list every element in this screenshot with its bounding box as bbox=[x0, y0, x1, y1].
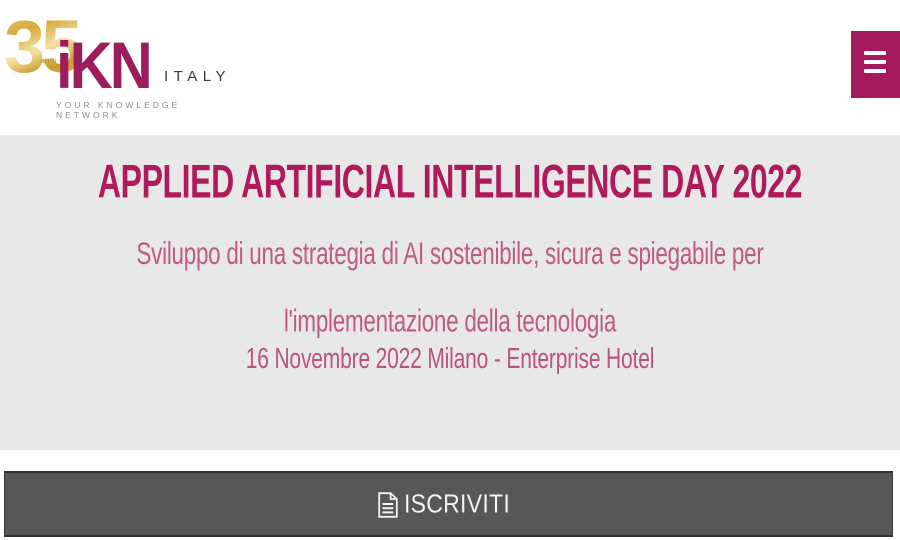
logo-country-italy: ITALY bbox=[164, 68, 231, 85]
document-form-icon bbox=[378, 492, 398, 518]
event-subtitle: Sviluppo di una strategia di AI sostenib… bbox=[101, 220, 798, 355]
hamburger-bar-1 bbox=[864, 51, 886, 55]
register-cta-content: ISCRIVITI bbox=[5, 473, 892, 535]
event-date-location: 16 Novembre 2022 Milano - Enterprise Hot… bbox=[72, 342, 828, 376]
logo-tagline: YOUR KNOWLEDGE NETWORK bbox=[56, 100, 244, 120]
logo-brand-ikn: iKN bbox=[56, 34, 150, 100]
hamburger-bar-2 bbox=[864, 60, 886, 64]
event-title: APPLIED ARTIFICIAL INTELLIGENCE DAY 2022 bbox=[90, 156, 810, 208]
hamburger-menu-button[interactable] bbox=[851, 31, 900, 98]
register-cta-label: ISCRIVITI bbox=[404, 489, 510, 519]
site-header: 35 anni iKN ITALY YOUR KNOWLEDGE NETWORK bbox=[0, 0, 900, 135]
logo-anniversary-word: anni bbox=[40, 56, 57, 65]
register-cta-bar[interactable]: ISCRIVITI bbox=[4, 471, 893, 537]
event-hero-banner: APPLIED ARTIFICIAL INTELLIGENCE DAY 2022… bbox=[0, 135, 900, 450]
hamburger-menu-icon bbox=[864, 51, 886, 75]
hamburger-bar-3 bbox=[864, 69, 886, 73]
site-logo[interactable]: 35 anni iKN ITALY YOUR KNOWLEDGE NETWORK bbox=[4, 8, 244, 116]
